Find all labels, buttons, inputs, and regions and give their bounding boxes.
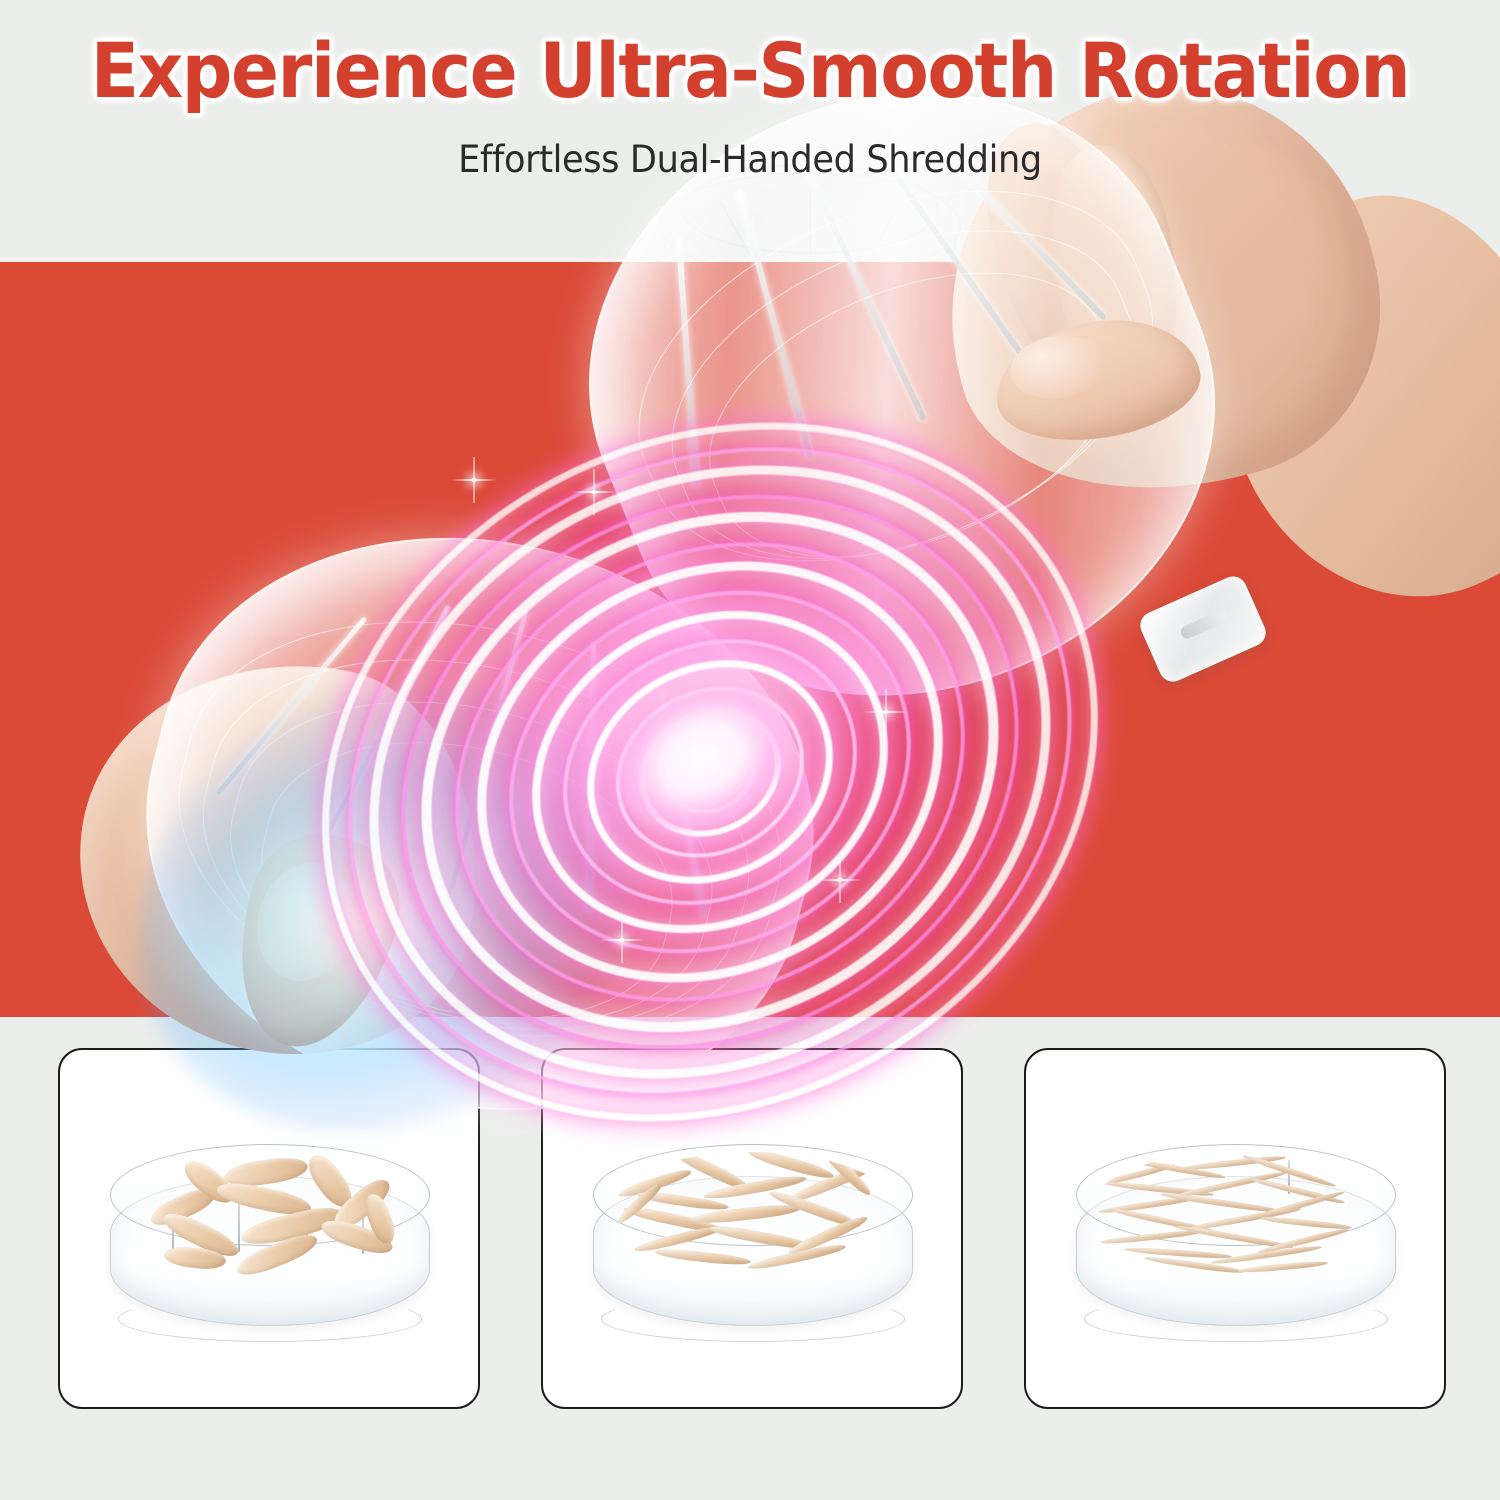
header-product-ghost bbox=[600, 105, 1020, 262]
clear-dish bbox=[1076, 1138, 1394, 1348]
thumbnail-card[interactable] bbox=[58, 1048, 480, 1409]
thumbnail-card[interactable] bbox=[541, 1048, 963, 1409]
page-title: Experience Ultra-Smooth Rotation bbox=[53, 26, 1448, 115]
thumbnail-card[interactable] bbox=[1024, 1048, 1446, 1409]
dish-base-rim bbox=[1084, 1296, 1388, 1342]
hero-band bbox=[0, 262, 1500, 1017]
page-subtitle: Effortless Dual-Handed Shredding bbox=[38, 138, 1463, 181]
clear-dish bbox=[110, 1138, 428, 1348]
food-content bbox=[1090, 1152, 1380, 1278]
product-feature-banner: Experience Ultra-Smooth Rotation Effortl… bbox=[0, 0, 1500, 1500]
clear-dish bbox=[593, 1138, 911, 1348]
header-section: Experience Ultra-Smooth Rotation Effortl… bbox=[0, 0, 1500, 262]
dish-base-rim bbox=[118, 1296, 422, 1342]
result-thumbnails-section: About 3 Times About 6 Times About 9 Time… bbox=[0, 1017, 1500, 1500]
food-content bbox=[607, 1152, 897, 1278]
hero-clip bbox=[0, 262, 1500, 1017]
food-content bbox=[124, 1152, 414, 1278]
dish-base-rim bbox=[601, 1296, 905, 1342]
